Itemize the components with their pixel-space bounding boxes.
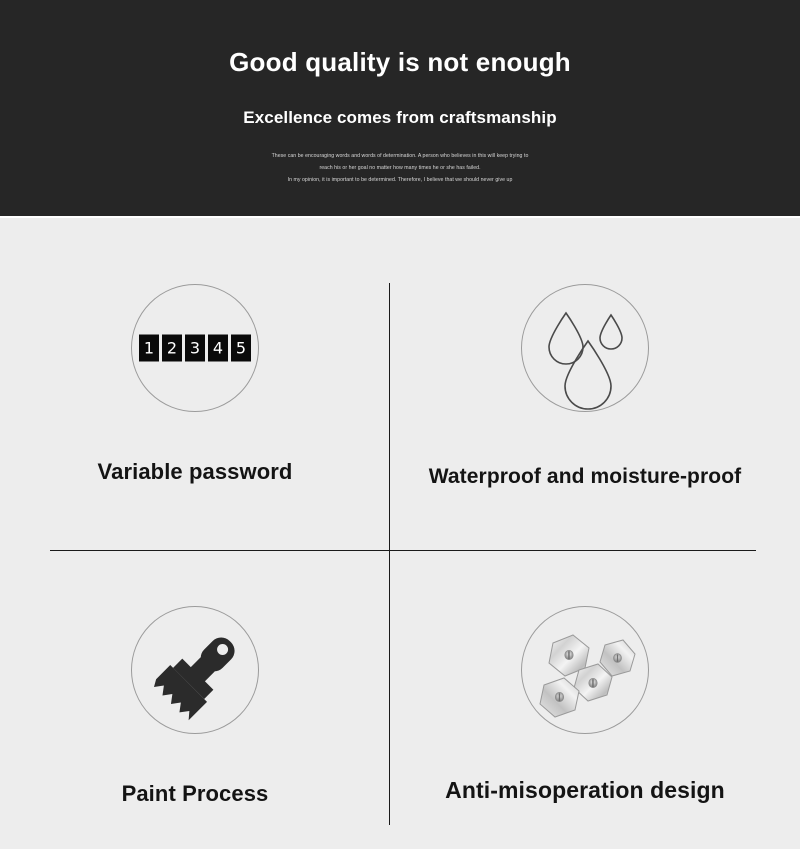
digit-tile: 4 [208, 335, 228, 362]
paint-brush-glyph [132, 607, 258, 733]
feature-cell-variable-password: 1 2 3 4 5 Variable password [0, 218, 390, 484]
paragraph-line-2: reach his or her goal no matter how many… [250, 163, 550, 175]
feature-label-variable-password: Variable password [0, 460, 390, 484]
feature-label-paint-process: Paint Process [0, 782, 390, 806]
password-dial-icon: 1 2 3 4 5 [131, 284, 259, 412]
feature-label-anti-misoperation: Anti-misoperation design [390, 778, 780, 803]
digit-tile: 1 [139, 335, 159, 362]
feature-grid: 1 2 3 4 5 Variable password Waterproof a… [0, 218, 800, 849]
page-subtitle: Excellence comes from craftsmanship [0, 77, 800, 128]
feature-label-waterproof: Waterproof and moisture-proof [390, 465, 780, 488]
feature-cell-anti-misoperation: Anti-misoperation design [390, 540, 780, 803]
digit-tile: 3 [185, 335, 205, 362]
header-paragraph: These can be encouraging words and words… [250, 127, 550, 186]
water-drops-icon [521, 284, 649, 412]
digit-tile: 5 [231, 335, 251, 362]
paragraph-line-3: In my opinion, it is important to be det… [250, 175, 550, 187]
header-banner: Good quality is not enough Excellence co… [0, 0, 800, 218]
water-drops-glyph [522, 285, 648, 411]
paragraph-line-1: These can be encouraging words and words… [250, 151, 550, 163]
metal-hexagon-plates-glyph [522, 607, 648, 733]
page-title: Good quality is not enough [0, 0, 800, 77]
feature-cell-waterproof: Waterproof and moisture-proof [390, 218, 780, 488]
paint-brush-icon [131, 606, 259, 734]
digit-tile-group: 1 2 3 4 5 [139, 335, 251, 362]
digit-tile: 2 [162, 335, 182, 362]
feature-cell-paint-process: Paint Process [0, 540, 390, 806]
metal-hexagon-plates-icon [521, 606, 649, 734]
